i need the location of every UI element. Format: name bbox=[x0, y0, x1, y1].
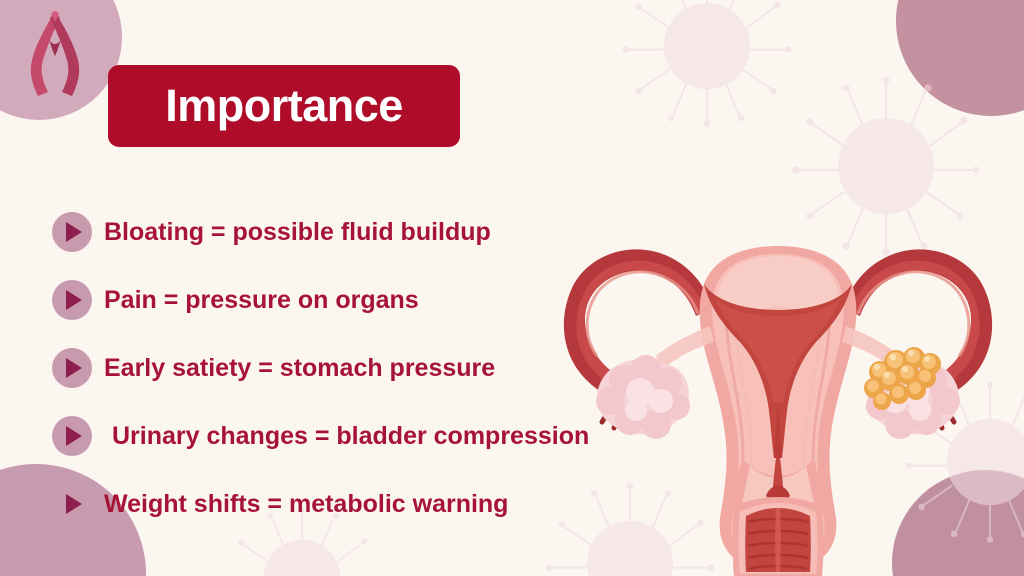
awareness-ribbon-icon bbox=[18, 4, 92, 108]
page-title-banner: Importance bbox=[108, 65, 460, 147]
list-item-label: Urinary changes = bladder compression bbox=[112, 422, 589, 451]
play-triangle-icon bbox=[52, 348, 92, 388]
play-triangle-icon bbox=[52, 280, 92, 320]
list-item-label: Bloating = possible fluid buildup bbox=[104, 218, 491, 247]
cell-decoration-icon bbox=[617, 0, 797, 136]
list-item-label: Pain = pressure on organs bbox=[104, 286, 419, 315]
play-triangle-icon bbox=[52, 416, 92, 456]
right-ovary bbox=[864, 347, 960, 439]
uterus-ovaries-diagram bbox=[528, 158, 1024, 576]
list-item-label: Weight shifts = metabolic warning bbox=[104, 490, 508, 519]
vaginal-canal bbox=[733, 497, 824, 576]
list-item-label: Early satiety = stomach pressure bbox=[104, 354, 495, 383]
left-ovary bbox=[596, 355, 690, 439]
play-triangle-icon bbox=[52, 484, 92, 524]
corner-circle-top-right bbox=[896, 0, 1024, 116]
play-triangle-icon bbox=[52, 212, 92, 252]
corner-circle-top-left bbox=[0, 0, 122, 120]
page-title: Importance bbox=[165, 80, 403, 132]
slide-root: Importance Bloating = possible fluid bui… bbox=[0, 0, 1024, 576]
